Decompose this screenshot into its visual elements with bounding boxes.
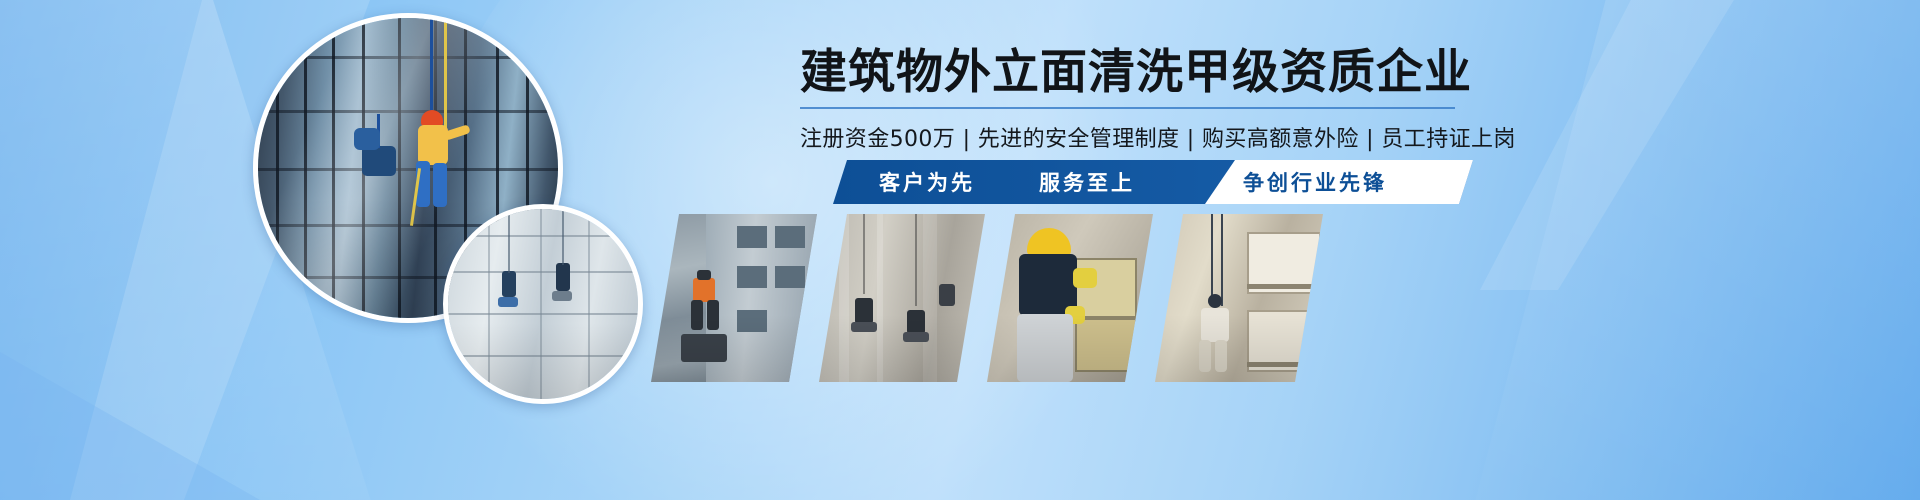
photo-strip-item-4 xyxy=(1155,214,1323,382)
slogan-ribbon: 客户为先 服务至上 争创行业先锋 xyxy=(833,160,1473,204)
light-facade-photo xyxy=(448,209,638,399)
title-underline xyxy=(800,107,1455,109)
photo-strip-item-1 xyxy=(651,214,817,382)
banner-text-block: 建筑物外立面清洗甲级资质企业 注册资金500万 | 先进的安全管理制度 | 购买… xyxy=(800,48,1500,153)
ribbon-slogan-3: 争创行业先锋 xyxy=(1243,160,1387,204)
ribbon-slogan-2: 服务至上 xyxy=(1039,160,1135,204)
ribbon-slogan-1: 客户为先 xyxy=(879,160,975,204)
circle-photo-small xyxy=(443,204,643,404)
photo-strip-item-3 xyxy=(987,214,1153,382)
background-shape-right-2 xyxy=(1480,0,1740,290)
background-shape-bottom-left xyxy=(0,300,260,500)
photo-strip-item-2 xyxy=(819,214,985,382)
background-shape-right xyxy=(1460,0,1920,500)
promo-banner: 建筑物外立面清洗甲级资质企业 注册资金500万 | 先进的安全管理制度 | 购买… xyxy=(0,0,1920,500)
banner-subtitle: 注册资金500万 | 先进的安全管理制度 | 购买高额意外险 | 员工持证上岗 xyxy=(800,121,1500,153)
banner-title: 建筑物外立面清洗甲级资质企业 xyxy=(800,48,1500,98)
photo-strip xyxy=(651,214,1323,382)
